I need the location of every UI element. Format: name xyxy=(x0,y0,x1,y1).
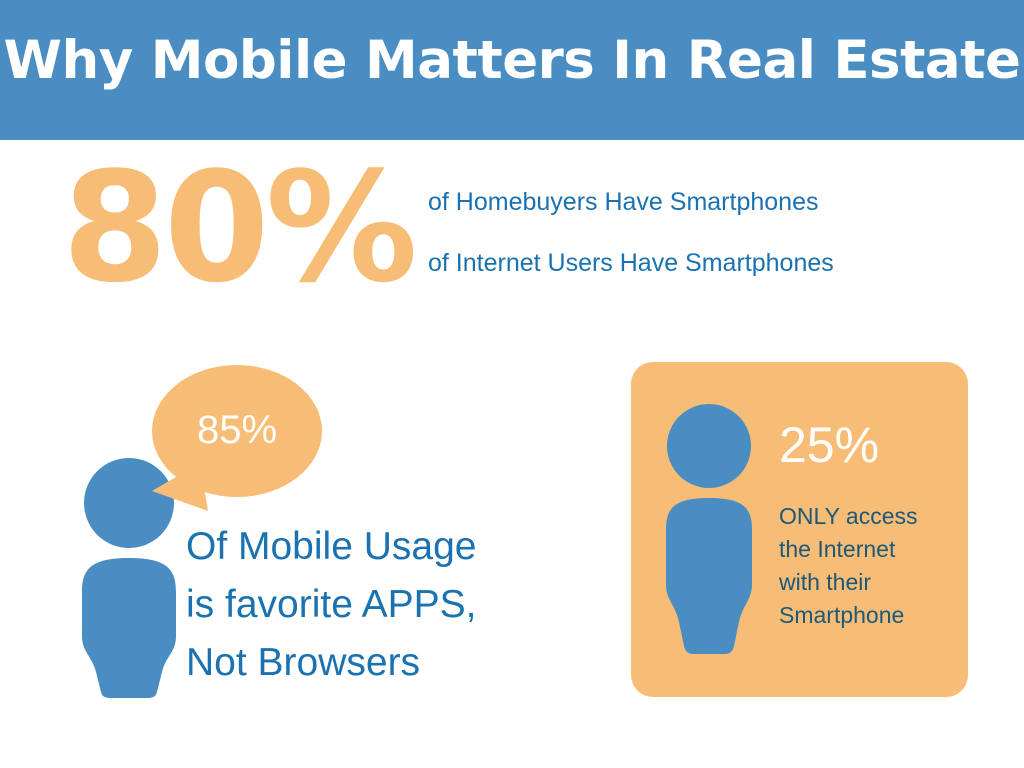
person-icon xyxy=(659,404,759,654)
top-stat-line-internet-users: of Internet Users Have Smartphones xyxy=(428,251,988,276)
card-description-line-2: the Internet xyxy=(779,533,959,566)
left-caption: Of Mobile Usage is favorite APPS, Not Br… xyxy=(186,518,606,692)
top-stat-line-homebuyers: of Homebuyers Have Smartphones xyxy=(428,190,988,215)
speech-bubble-value: 85% xyxy=(148,410,326,450)
card-text-column: 25% ONLY access the Internet with their … xyxy=(779,420,959,632)
left-caption-line-3: Not Browsers xyxy=(186,634,606,692)
speech-bubble: 85% xyxy=(148,363,333,523)
left-caption-line-2: is favorite APPS, xyxy=(186,576,606,634)
card-description-line-4: Smartphone xyxy=(779,599,959,632)
card-description-line-1: ONLY access xyxy=(779,500,959,533)
top-stat-lines: of Homebuyers Have Smartphones of Intern… xyxy=(428,190,988,276)
top-stat-value: 80% xyxy=(62,152,422,304)
header-banner: Why Mobile Matters In Real Estate xyxy=(0,0,1024,140)
top-stat-block: 80% xyxy=(62,152,422,322)
left-caption-line-1: Of Mobile Usage xyxy=(186,518,606,576)
stat-card: 25% ONLY access the Internet with their … xyxy=(631,362,968,697)
card-description: ONLY access the Internet with their Smar… xyxy=(779,500,959,632)
page-title: Why Mobile Matters In Real Estate xyxy=(0,34,1024,87)
card-stat-value: 25% xyxy=(779,420,959,470)
card-description-line-3: with their xyxy=(779,566,959,599)
infographic-page: Why Mobile Matters In Real Estate 80% of… xyxy=(0,0,1024,768)
